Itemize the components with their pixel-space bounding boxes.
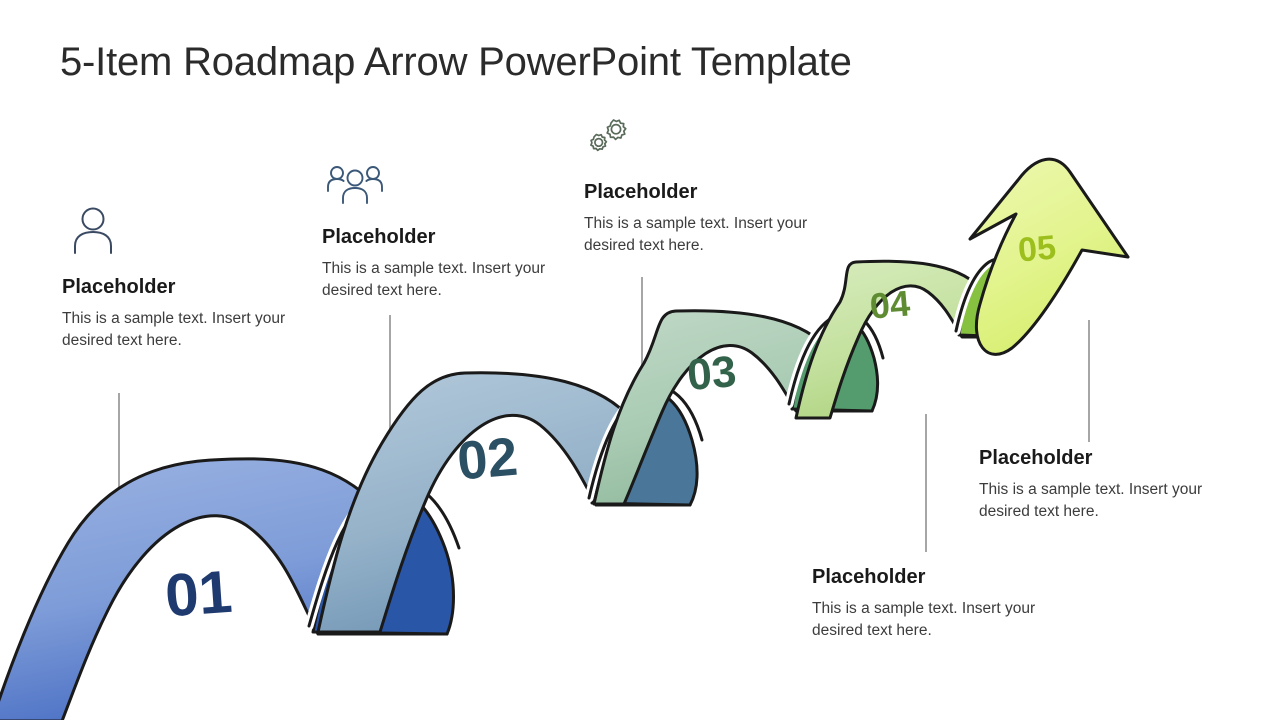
callout-1-title: Placeholder bbox=[62, 276, 292, 298]
fold-edge-03 bbox=[789, 313, 883, 404]
ribbon-arrowhead-05 bbox=[970, 159, 1128, 354]
fold-edge-04 bbox=[956, 259, 1028, 331]
callout-2-title: Placeholder bbox=[322, 226, 552, 248]
callout-3-title: Placeholder bbox=[584, 181, 814, 203]
gears-icon bbox=[583, 115, 631, 163]
ribbon-fold-01 bbox=[313, 489, 454, 634]
people-group-icon bbox=[326, 165, 384, 205]
ribbon-segment-04 bbox=[796, 261, 1016, 418]
fold-edge-outline-02 bbox=[589, 387, 702, 498]
fold-edge-02 bbox=[589, 387, 702, 498]
callout-2-body: This is a sample text. Insert your desir… bbox=[322, 258, 552, 302]
step-number-03: 03 bbox=[685, 347, 738, 400]
fold-edge-outline-04 bbox=[956, 259, 1028, 331]
callout-5-title: Placeholder bbox=[979, 447, 1209, 469]
connector-line-3 bbox=[641, 277, 643, 383]
ribbon-fold-03 bbox=[792, 318, 878, 411]
callout-5-body: This is a sample text. Insert your desir… bbox=[979, 479, 1209, 523]
callout-1: Placeholder This is a sample text. Inser… bbox=[62, 276, 292, 352]
connector-line-5 bbox=[1088, 320, 1090, 442]
callout-1-body: This is a sample text. Insert your desir… bbox=[62, 308, 292, 352]
page-title: 5-Item Roadmap Arrow PowerPoint Template bbox=[60, 40, 852, 85]
fold-edge-outline-01 bbox=[309, 483, 459, 626]
connector-line-2 bbox=[389, 315, 391, 442]
callout-4-body: This is a sample text. Insert your desir… bbox=[812, 598, 1042, 642]
fold-edge-outline-03 bbox=[789, 313, 883, 404]
fold-edge-01 bbox=[309, 483, 459, 626]
callout-2: Placeholder This is a sample text. Inser… bbox=[322, 226, 552, 302]
ribbon-fold-02 bbox=[592, 392, 697, 505]
connector-line-1 bbox=[118, 393, 120, 563]
person-icon bbox=[70, 206, 116, 254]
step-number-05: 05 bbox=[1017, 228, 1058, 269]
ribbon-fold-04 bbox=[959, 264, 1024, 337]
callout-4: Placeholder This is a sample text. Inser… bbox=[812, 566, 1042, 642]
connector-line-4 bbox=[925, 414, 927, 552]
callout-3-body: This is a sample text. Insert your desir… bbox=[584, 213, 814, 257]
slide-canvas: 5-Item Roadmap Arrow PowerPoint Template bbox=[0, 0, 1280, 720]
callout-4-title: Placeholder bbox=[812, 566, 1042, 588]
step-number-02: 02 bbox=[455, 427, 520, 492]
ribbon-segment-03 bbox=[594, 311, 872, 504]
step-number-04: 04 bbox=[868, 282, 911, 326]
callout-5: Placeholder This is a sample text. Inser… bbox=[979, 447, 1209, 523]
ribbon-segment-01 bbox=[0, 459, 447, 720]
ribbon-segment-02 bbox=[318, 373, 690, 632]
step-number-01: 01 bbox=[163, 558, 234, 629]
callout-3: Placeholder This is a sample text. Inser… bbox=[584, 181, 814, 257]
